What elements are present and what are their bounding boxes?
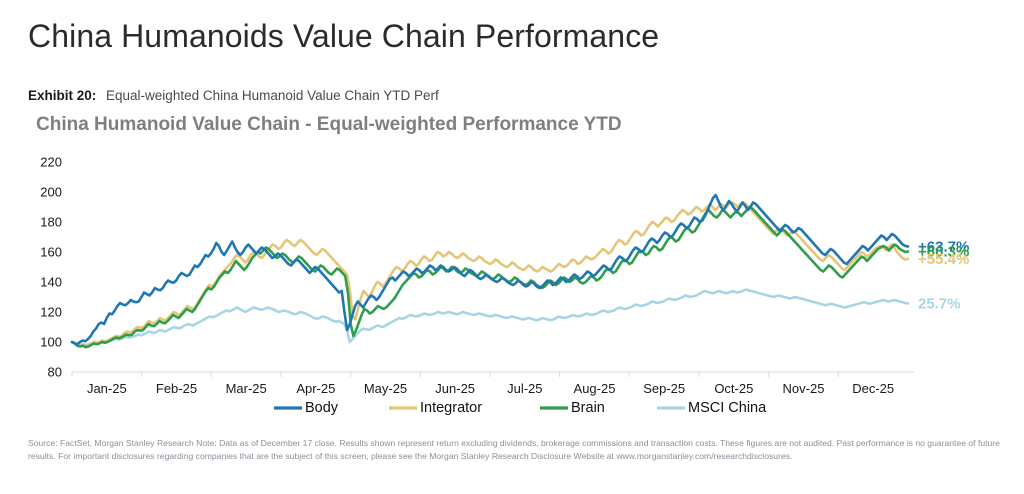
- series-line-integrator: [72, 203, 908, 347]
- y-tick-label: 120: [40, 305, 62, 320]
- chart-container: 80100120140160180200220 Jan-25Feb-25Mar-…: [0, 150, 1024, 430]
- y-tick-label: 200: [40, 185, 62, 200]
- series-lines: [72, 195, 908, 347]
- chart-title: China Humanoid Value Chain - Equal-weigh…: [36, 114, 622, 136]
- x-tick-label: Oct-25: [714, 381, 753, 396]
- end-value-labels: +63.7%+60.3%+55.4%25.7%: [918, 238, 969, 312]
- y-tick-label: 140: [40, 275, 62, 290]
- x-tick-label: Sep-25: [643, 381, 685, 396]
- x-tick-label: Jul-25: [507, 381, 542, 396]
- y-axis: 80100120140160180200220: [40, 155, 914, 380]
- x-tick-label: Dec-25: [852, 381, 894, 396]
- legend-label-body[interactable]: Body: [305, 400, 339, 416]
- x-tick-label: Feb-25: [156, 381, 197, 396]
- y-tick-label: 80: [48, 365, 62, 380]
- y-tick-label: 100: [40, 335, 62, 350]
- exhibit-description: Equal-weighted China Humanoid Value Chai…: [106, 88, 439, 103]
- end-label-msci-china: 25.7%: [918, 295, 961, 312]
- y-tick-label: 220: [40, 155, 62, 170]
- x-tick-label: Nov-25: [783, 381, 825, 396]
- x-tick-label: May-25: [364, 381, 407, 396]
- footnote-source: Source: FactSet, Morgan Stanley Research…: [28, 437, 1003, 464]
- exhibit-caption: Exhibit 20: Equal-weighted China Humanoi…: [28, 88, 439, 103]
- x-tick-label: Jun-25: [435, 381, 475, 396]
- x-tick-label: Apr-25: [296, 381, 335, 396]
- series-line-msci-china: [72, 290, 908, 346]
- end-label-integrator: +55.4%: [918, 251, 969, 268]
- x-tick-label: Aug-25: [574, 381, 616, 396]
- y-tick-label: 160: [40, 245, 62, 260]
- legend-label-brain[interactable]: Brain: [571, 400, 605, 416]
- chart-legend: BodyIntegratorBrainMSCI China: [274, 400, 767, 416]
- x-axis: Jan-25Feb-25Mar-25Apr-25May-25Jun-25Jul-…: [72, 372, 894, 396]
- legend-label-msci-china[interactable]: MSCI China: [688, 400, 767, 416]
- x-tick-label: Mar-25: [226, 381, 267, 396]
- page-title: China Humanoids Value Chain Performance: [28, 18, 659, 55]
- exhibit-number: Exhibit 20:: [28, 88, 96, 103]
- y-tick-label: 180: [40, 215, 62, 230]
- legend-label-integrator[interactable]: Integrator: [420, 400, 482, 416]
- x-tick-label: Jan-25: [87, 381, 127, 396]
- line-chart: 80100120140160180200220 Jan-25Feb-25Mar-…: [0, 150, 1024, 430]
